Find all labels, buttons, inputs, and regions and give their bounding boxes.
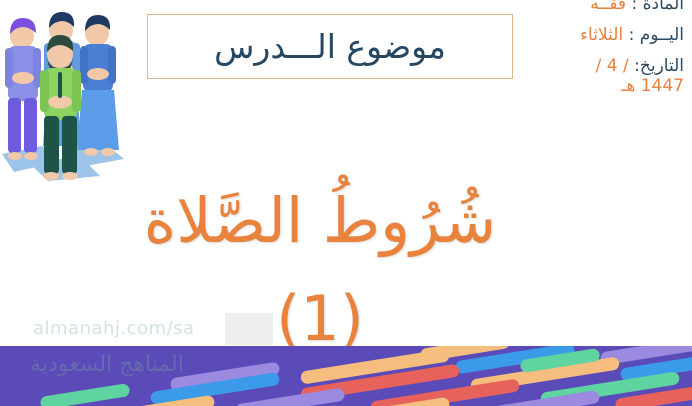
bar-pill: [40, 383, 131, 406]
date-label: التاريخ:: [634, 56, 684, 76]
lesson-topic-label: موضوع الـــدرس: [214, 27, 446, 66]
figure-right: [77, 15, 119, 156]
page-title: شُرُوطُ الصَّلاة: [0, 185, 640, 256]
meta-row-day: اليــوم : الثلاثاء: [504, 27, 684, 45]
subject-value: فقــه: [590, 0, 626, 14]
men-praying-illustration: [2, 6, 138, 181]
subject-label: المادة :: [631, 0, 684, 14]
bar-pill: [235, 387, 346, 406]
watermark-url: almanahj.com/sa: [33, 318, 195, 339]
date-year: 1447 هـ: [504, 78, 684, 96]
watermark-arabic: المناهج السعودية: [30, 352, 184, 377]
lesson-topic-box: موضوع الـــدرس: [147, 14, 513, 79]
meta-row-date: التاريخ: / 4 /: [504, 58, 684, 76]
slide-canvas: موضوع الـــدرس المادة : فقــه اليــوم : …: [0, 0, 692, 406]
lesson-meta-block: المادة : فقــه اليــوم : الثلاثاء التاري…: [504, 0, 684, 95]
watermark-block: [225, 313, 273, 345]
day-value: الثلاثاء: [580, 25, 623, 45]
figure-left: [5, 18, 41, 160]
date-value: / 4 /: [596, 56, 629, 76]
day-label: اليــوم :: [629, 25, 684, 45]
bar-pill: [0, 403, 71, 406]
meta-row-subject: المادة : فقــه: [504, 0, 684, 14]
